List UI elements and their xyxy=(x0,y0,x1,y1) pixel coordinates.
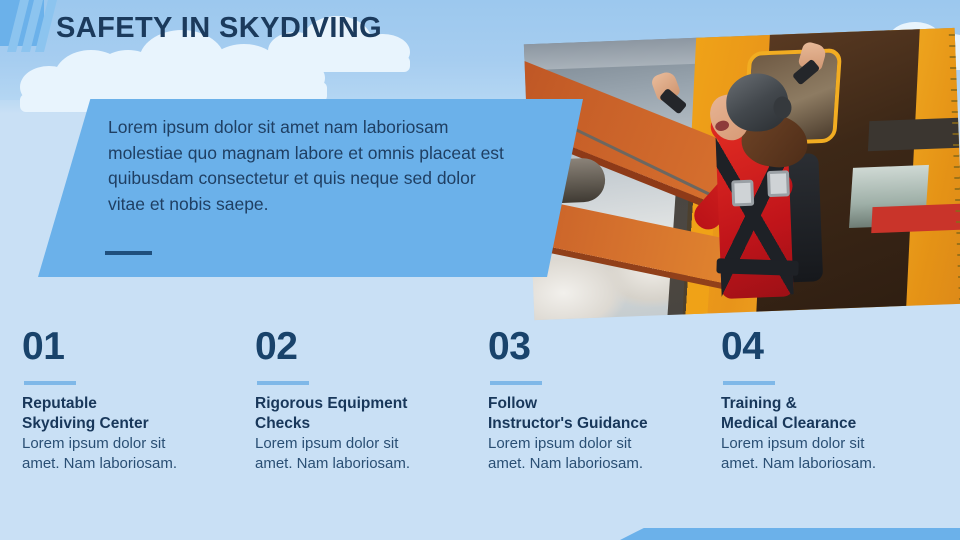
harness-waist-belt xyxy=(716,258,798,276)
step-column-04: 04 Training & Medical Clearance Lorem ip… xyxy=(699,326,932,506)
step-divider xyxy=(723,381,775,385)
step-divider xyxy=(257,381,309,385)
step-column-02: 02 Rigorous Equipment Checks Lorem ipsum… xyxy=(233,326,466,506)
harness-buckle-left xyxy=(731,180,754,207)
step-column-01: 01 Reputable Skydiving Center Lorem ipsu… xyxy=(0,326,233,506)
skydiver-helmet xyxy=(725,72,789,132)
step-divider xyxy=(490,381,542,385)
fuselage-red-stripe xyxy=(871,203,960,234)
slide-title: SAFETY IN SKYDIVING xyxy=(56,12,382,45)
step-body: Lorem ipsum dolor sit amet. Nam laborios… xyxy=(255,434,466,473)
slide-canvas: SAFETY IN SKYDIVING xyxy=(0,0,960,540)
corner-accent-block xyxy=(0,0,44,46)
intro-underline-dash xyxy=(105,251,152,255)
step-heading: Rigorous Equipment Checks xyxy=(255,394,466,433)
step-body: Lorem ipsum dolor sit amet. Nam laborios… xyxy=(721,434,932,473)
fuselage-black-stripe xyxy=(868,117,960,152)
skydiver-figure xyxy=(663,60,852,317)
skydiver-right-cuff xyxy=(792,59,820,86)
step-heading: Training & Medical Clearance xyxy=(721,394,932,433)
step-number: 04 xyxy=(721,326,932,368)
harness-buckle-right xyxy=(767,170,790,197)
photo-inner xyxy=(524,28,960,320)
intro-paragraph: Lorem ipsum dolor sit amet nam laboriosa… xyxy=(108,115,508,217)
intro-text-card: Lorem ipsum dolor sit amet nam laboriosa… xyxy=(38,99,583,277)
step-number: 02 xyxy=(255,326,466,368)
steps-row: 01 Reputable Skydiving Center Lorem ipsu… xyxy=(0,326,960,506)
step-body: Lorem ipsum dolor sit amet. Nam laborios… xyxy=(488,434,699,473)
step-column-03: 03 Follow Instructor's Guidance Lorem ip… xyxy=(466,326,699,506)
step-number: 01 xyxy=(22,326,233,368)
step-heading: Reputable Skydiving Center xyxy=(22,394,233,433)
step-number: 03 xyxy=(488,326,699,368)
step-body: Lorem ipsum dolor sit amet. Nam laborios… xyxy=(22,434,233,473)
step-heading: Follow Instructor's Guidance xyxy=(488,394,699,433)
skydiver-photo xyxy=(524,28,960,320)
step-divider xyxy=(24,381,76,385)
bottom-accent-bar xyxy=(620,528,960,540)
